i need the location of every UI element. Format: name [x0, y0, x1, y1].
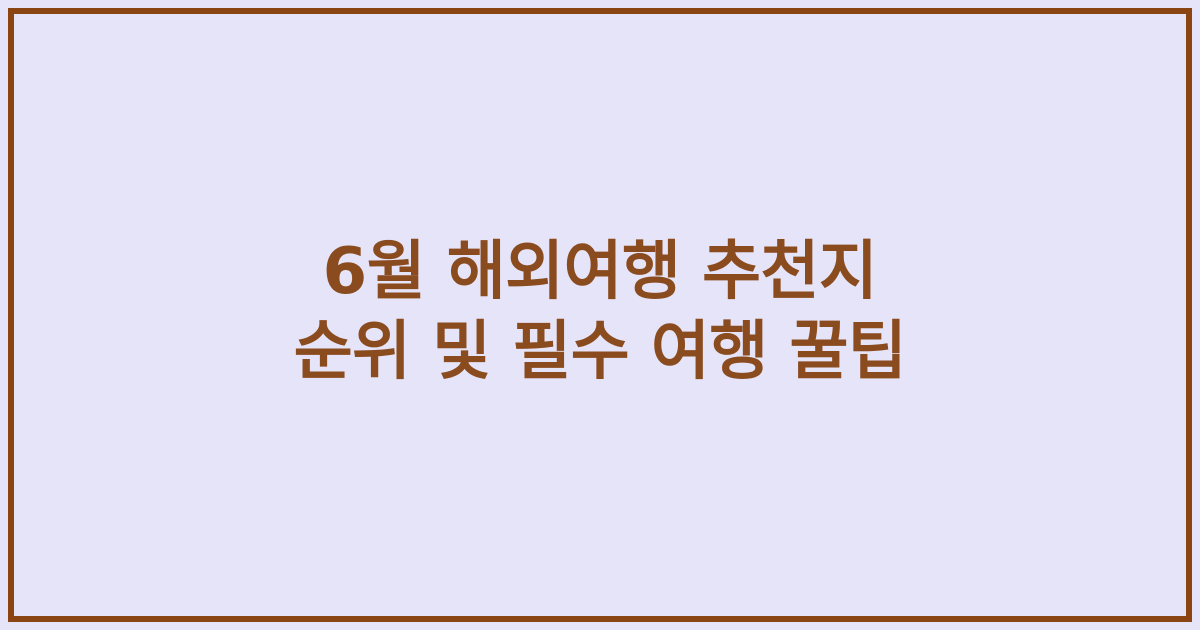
- page-title: 6월 해외여행 추천지 순위 및 필수 여행 꿀팁: [80, 232, 1120, 398]
- thumbnail-card: 6월 해외여행 추천지 순위 및 필수 여행 꿀팁: [0, 0, 1200, 630]
- title-line-2: 순위 및 필수 여행 꿀팁: [80, 312, 1120, 392]
- title-line-1: 6월 해외여행 추천지: [80, 232, 1120, 312]
